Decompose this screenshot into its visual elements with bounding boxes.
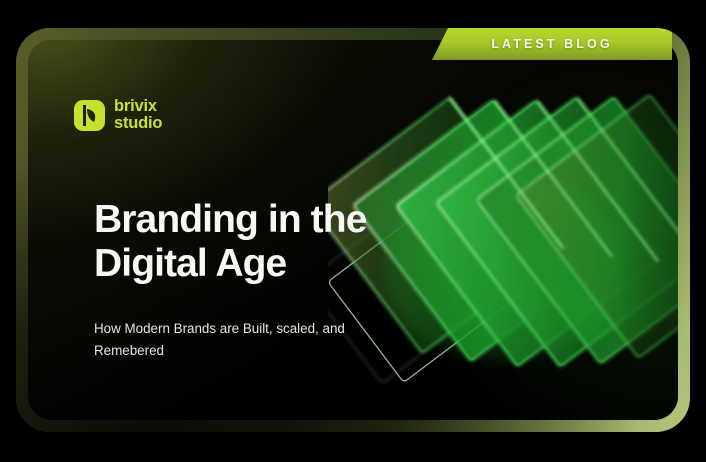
latest-blog-badge[interactable]: LATEST BLOG (432, 28, 672, 60)
page-title: Branding in the Digital Age (94, 198, 454, 286)
brivix-leaf-mark-icon (74, 100, 105, 131)
brand-name-line1: brivix (114, 98, 162, 115)
brand-name-line2: studio (114, 115, 162, 132)
page-subtitle: How Modern Brands are Built, scaled, and… (94, 318, 394, 361)
promo-card: brivix studio Branding in the Digital Ag… (16, 28, 690, 432)
brand-logo[interactable]: brivix studio (74, 98, 162, 132)
card-inner: brivix studio Branding in the Digital Ag… (28, 40, 678, 420)
latest-blog-badge-label: LATEST BLOG (491, 37, 612, 51)
leaf-glyph (80, 105, 99, 126)
brand-wordmark: brivix studio (114, 98, 162, 132)
